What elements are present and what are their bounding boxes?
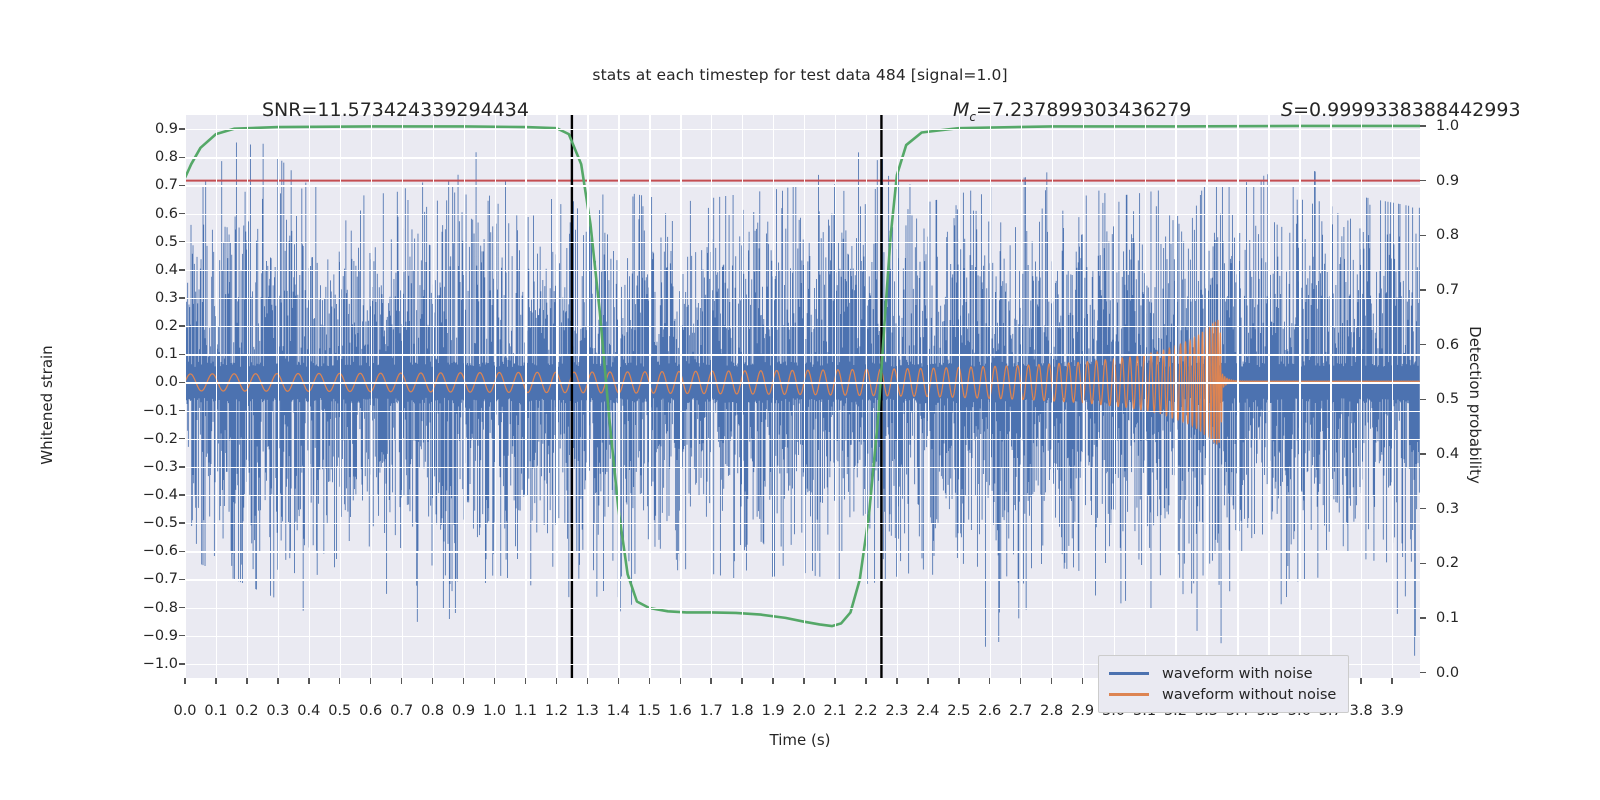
x-axis-tick-mark [896,678,897,684]
y-axis-left-tick-mark [179,635,185,636]
y-axis-left-tick-label: 0.2 [118,318,178,334]
grid-line-vertical [618,115,619,678]
grid-line-vertical [680,115,681,678]
grid-line-vertical [1206,115,1207,678]
grid-line-horizontal [185,608,1420,609]
y-axis-right-tick-mark [1420,399,1426,400]
y-axis-left-tick-label: 0.8 [118,149,178,165]
x-axis-tick-mark [556,678,557,684]
grid-line-horizontal [185,382,1420,383]
signal-score-annotation: S=0.9999338388442993 [1281,99,1521,121]
grid-line-vertical [1114,115,1115,678]
y-axis-left-tick-label: 0.5 [118,234,178,250]
y-axis-left-tick-label: −0.4 [118,487,178,503]
grid-line-horizontal [185,495,1420,496]
y-axis-right-tick-label: 0.9 [1436,173,1496,189]
grid-line-horizontal [185,411,1420,412]
legend-label-with-noise: waveform with noise [1162,666,1313,682]
chirp-mass-symbol: M [953,99,969,121]
grid-line-vertical [1083,115,1084,678]
y-axis-left-tick-label: −1.0 [118,656,178,672]
signal-score-equals: = [1293,99,1309,121]
x-axis-tick-mark [1391,678,1392,684]
x-axis-tick-mark [308,678,309,684]
grid-line-vertical [185,115,186,678]
grid-line-horizontal [185,579,1420,580]
legend-swatch-with-noise [1109,672,1149,674]
y-axis-left-tick-label: 0.6 [118,206,178,222]
x-axis-tick-mark [1360,678,1361,684]
x-axis-tick-mark [1051,678,1052,684]
grid-line-horizontal [185,439,1420,440]
grid-line-vertical [1145,115,1146,678]
y-axis-right-tick-label: 0.1 [1436,610,1496,626]
y-axis-right-tick-mark [1420,344,1426,345]
y-axis-left-tick-mark [179,213,185,214]
y-axis-left-tick-label: 0.0 [118,374,178,390]
grid-line-vertical [495,115,496,678]
y-axis-left-tick-label: −0.8 [118,600,178,616]
grid-line-horizontal [185,467,1420,468]
x-axis-tick-mark [432,678,433,684]
grid-line-vertical [959,115,960,678]
grid-line-vertical [990,115,991,678]
x-axis-tick-mark [401,678,402,684]
grid-line-vertical [1052,115,1053,678]
y-axis-right-tick-mark [1420,180,1426,181]
x-axis-tick-mark [525,678,526,684]
grid-line-vertical [804,115,805,678]
y-axis-left-tick-label: −0.5 [118,515,178,531]
grid-line-horizontal [185,636,1420,637]
plot-area [185,115,1420,678]
x-axis-tick-mark [184,678,185,684]
legend-item-waveform-without-noise: waveform without noise [1109,684,1336,705]
y-axis-right-tick-mark [1420,235,1426,236]
grid-line-vertical [309,115,310,678]
grid-line-vertical [1237,115,1238,678]
figure-canvas: stats at each timestep for test data 484… [0,0,1600,800]
x-axis-tick-mark [803,678,804,684]
grid-line-vertical [247,115,248,678]
y-axis-left-tick-label: −0.3 [118,459,178,475]
y-axis-left-tick-mark [179,663,185,664]
y-axis-left-label: Whitened strain [38,275,56,535]
grid-line-horizontal [185,298,1420,299]
x-axis-tick-mark [741,678,742,684]
y-axis-right-tick-mark [1420,617,1426,618]
y-axis-right-tick-mark [1420,453,1426,454]
y-axis-left-tick-label: 0.3 [118,290,178,306]
legend-swatch-without-noise [1109,693,1149,695]
y-axis-right-tick-mark [1420,125,1426,126]
y-axis-left-tick-label: −0.6 [118,543,178,559]
x-axis-tick-mark [834,678,835,684]
grid-line-vertical [433,115,434,678]
y-axis-right-tick-mark [1420,672,1426,673]
y-axis-left-tick-mark [179,325,185,326]
grid-line-vertical [1021,115,1022,678]
grid-line-vertical [1392,115,1393,678]
x-axis-tick-mark [246,678,247,684]
y-axis-left-tick-label: −0.2 [118,431,178,447]
grid-line-vertical [556,115,557,678]
y-axis-right-tick-mark [1420,289,1426,290]
snr-text: SNR=11.573424339294434 [262,99,529,121]
x-axis-tick-mark [958,678,959,684]
x-axis-tick-mark [989,678,990,684]
y-axis-left-tick-label: −0.1 [118,403,178,419]
y-axis-right-tick-label: 0.2 [1436,555,1496,571]
x-axis-tick-mark [865,678,866,684]
snr-annotation: SNR=11.573424339294434 [262,99,529,121]
legend-item-waveform-with-noise: waveform with noise [1109,663,1336,684]
y-axis-right-tick-label: 0.0 [1436,665,1496,681]
y-axis-right-tick-mark [1420,563,1426,564]
y-axis-left-tick-mark [179,269,185,270]
x-axis-tick-mark [339,678,340,684]
x-axis-tick-mark [215,678,216,684]
grid-line-horizontal [185,129,1420,130]
signal-score-symbol: S [1281,99,1293,121]
y-axis-left-tick-label: −0.7 [118,571,178,587]
x-axis-tick-mark [463,678,464,684]
grid-line-vertical [1361,115,1362,678]
grid-line-vertical [525,115,526,678]
y-axis-left-tick-label: 0.1 [118,346,178,362]
chart-title: stats at each timestep for test data 484… [0,66,1600,84]
y-axis-left-tick-label: 0.7 [118,177,178,193]
y-axis-right-label: Detection probability [1466,275,1484,535]
grid-line-vertical [587,115,588,678]
chirp-mass-value: 7.237899303436279 [992,99,1191,121]
grid-line-vertical [464,115,465,678]
x-axis-tick-mark [370,678,371,684]
chirp-mass-annotation: Mc=7.237899303436279 [953,99,1191,124]
x-axis-tick-mark [277,678,278,684]
x-axis-tick-mark [1082,678,1083,684]
x-axis-tick-mark [618,678,619,684]
grid-line-vertical [835,115,836,678]
legend: waveform with noise waveform without noi… [1098,655,1349,713]
grid-line-horizontal [185,185,1420,186]
y-axis-left-tick-mark [179,128,185,129]
signal-score-value: 0.9999338388442993 [1309,99,1521,121]
grid-line-vertical [278,115,279,678]
grid-line-vertical [742,115,743,678]
x-axis-tick-mark [1020,678,1021,684]
x-axis-tick-label: 3.9 [1370,703,1414,719]
grid-line-horizontal [185,157,1420,158]
y-axis-left-tick-mark [179,579,185,580]
grid-line-horizontal [185,551,1420,552]
y-axis-left-tick-mark [179,157,185,158]
grid-line-vertical [1330,115,1331,678]
grid-line-vertical [897,115,898,678]
grid-line-vertical [340,115,341,678]
y-axis-left-tick-mark [179,410,185,411]
y-axis-left-tick-mark [179,354,185,355]
x-axis-tick-mark [772,678,773,684]
x-axis-tick-mark [710,678,711,684]
grid-line-vertical [402,115,403,678]
grid-line-horizontal [185,270,1420,271]
y-axis-left-tick-mark [179,494,185,495]
y-axis-left-tick-mark [179,297,185,298]
y-axis-left-tick-mark [179,607,185,608]
x-axis-tick-mark [680,678,681,684]
grid-line-horizontal [185,354,1420,355]
grid-line-vertical [371,115,372,678]
x-axis-tick-mark [587,678,588,684]
grid-line-horizontal [185,326,1420,327]
grid-line-horizontal [185,523,1420,524]
y-axis-left-tick-label: −0.9 [118,628,178,644]
grid-line-horizontal [185,242,1420,243]
y-axis-left-tick-mark [179,522,185,523]
y-axis-left-tick-mark [179,185,185,186]
x-axis-tick-mark [649,678,650,684]
y-axis-left-tick-mark [179,551,185,552]
x-axis-tick-mark [927,678,928,684]
y-axis-left-tick-label: 0.4 [118,262,178,278]
grid-line-vertical [649,115,650,678]
grid-line-vertical [866,115,867,678]
legend-label-without-noise: waveform without noise [1162,687,1336,703]
grid-line-vertical [1299,115,1300,678]
y-axis-left-tick-label: 0.9 [118,121,178,137]
y-axis-left-tick-mark [179,438,185,439]
grid-line-vertical [1268,115,1269,678]
x-axis-tick-mark [494,678,495,684]
x-axis-label: Time (s) [0,731,1600,749]
y-axis-left-tick-mark [179,241,185,242]
y-axis-left-tick-mark [179,466,185,467]
y-axis-right-tick-label: 0.8 [1436,227,1496,243]
grid-line-vertical [1175,115,1176,678]
grid-line-vertical [928,115,929,678]
grid-line-vertical [773,115,774,678]
y-axis-right-tick-mark [1420,508,1426,509]
grid-line-vertical [711,115,712,678]
grid-line-horizontal [185,214,1420,215]
grid-line-vertical [216,115,217,678]
chirp-mass-equals: = [976,99,992,121]
y-axis-left-tick-mark [179,382,185,383]
